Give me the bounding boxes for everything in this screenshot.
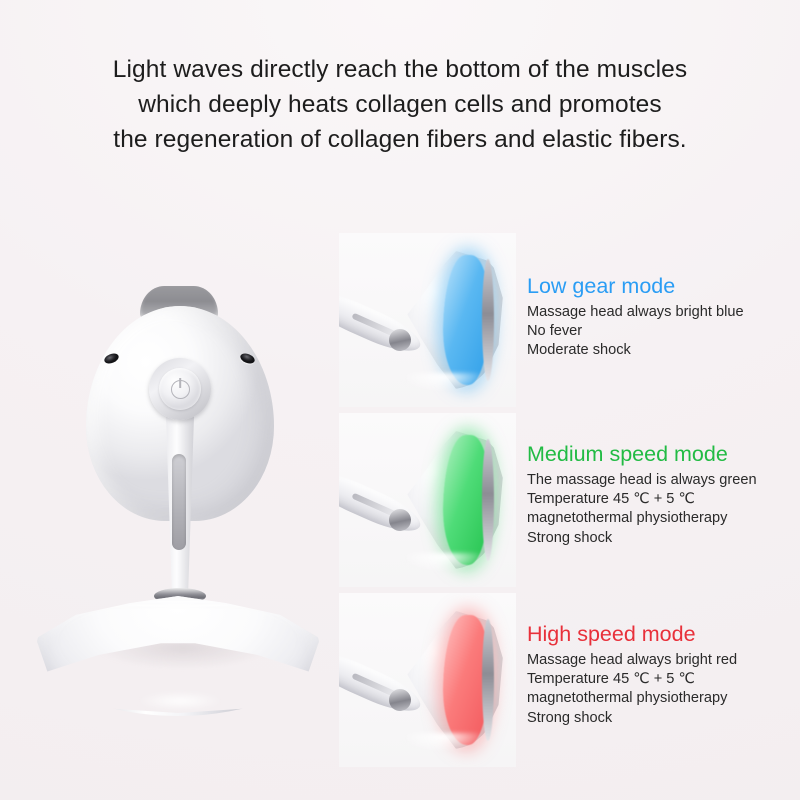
headline-line-1: Light waves directly reach the bottom of… xyxy=(0,52,800,87)
mode-detail-line: The massage head is always green xyxy=(527,471,799,490)
mode-detail-line: No fever xyxy=(527,322,799,341)
mode-text-medium-speed: Medium speed mode The massage head is al… xyxy=(527,441,799,548)
thumb-base-glow xyxy=(399,553,509,587)
mode-title: Low gear mode xyxy=(527,273,799,299)
mode-detail-line: Massage head always bright red xyxy=(527,651,799,670)
mode-detail-line: Massage head always bright blue xyxy=(527,303,799,322)
thumb-led-strip-red xyxy=(443,615,489,745)
headline-line-2: which deeply heats collagen cells and pr… xyxy=(0,87,800,122)
mode-detail-line: Temperature 45 ℃ + 5 ℃ xyxy=(527,490,799,509)
thumb-base-glow xyxy=(399,733,509,767)
device-highlight-glow xyxy=(120,688,240,714)
mode-text-high-speed: High speed mode Massage head always brig… xyxy=(527,621,799,728)
mode-detail-line: Temperature 45 ℃ + 5 ℃ xyxy=(527,670,799,689)
headline-line-3: the regeneration of collagen fibers and … xyxy=(0,122,800,157)
mode-title: Medium speed mode xyxy=(527,441,799,467)
headline-block: Light waves directly reach the bottom of… xyxy=(0,52,800,157)
thumb-base-glow xyxy=(399,373,509,407)
thumb-led-strip-green xyxy=(443,435,489,565)
product-infographic: Light waves directly reach the bottom of… xyxy=(0,0,800,800)
power-button[interactable] xyxy=(159,368,201,410)
mode-title: High speed mode xyxy=(527,621,799,647)
mode-list: Low gear mode Massage head always bright… xyxy=(339,233,800,773)
mode-thumbnail-medium-speed xyxy=(339,413,516,587)
device-spine-slot xyxy=(172,454,186,550)
mode-row-high-speed: High speed mode Massage head always brig… xyxy=(339,593,800,767)
mode-thumbnail-high-speed xyxy=(339,593,516,767)
mode-row-medium-speed: Medium speed mode The massage head is al… xyxy=(339,413,800,587)
mode-detail-line: Strong shock xyxy=(527,529,799,548)
mode-thumbnail-low-gear xyxy=(339,233,516,407)
mode-detail-line: Strong shock xyxy=(527,709,799,728)
thumb-led-strip-blue xyxy=(443,255,489,385)
mode-text-low-gear: Low gear mode Massage head always bright… xyxy=(527,273,799,361)
hero-product-image xyxy=(28,258,328,728)
mode-detail-line: magnetothermal physiotherapy xyxy=(527,689,799,708)
mode-detail-line: Moderate shock xyxy=(527,341,799,360)
mode-detail-line: magnetothermal physiotherapy xyxy=(527,509,799,528)
power-icon xyxy=(171,380,190,399)
mode-row-low-gear: Low gear mode Massage head always bright… xyxy=(339,233,800,407)
